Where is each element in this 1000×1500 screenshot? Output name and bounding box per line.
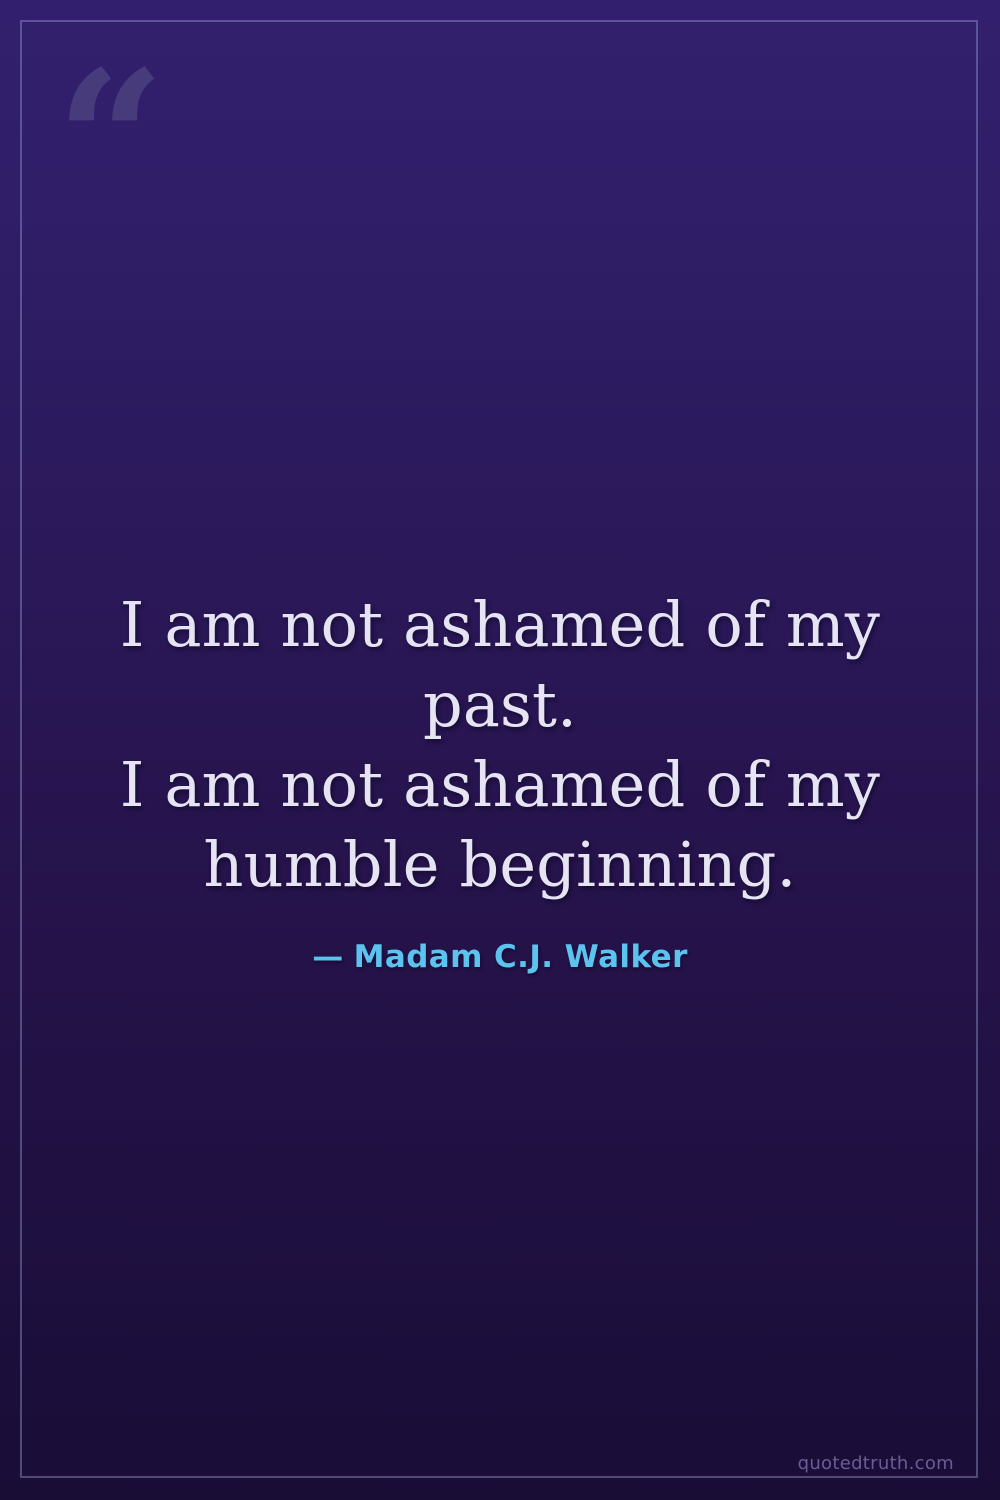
quote-line: I am not ashamed of my past. <box>120 588 880 741</box>
author-name: Madam C.J. Walker <box>354 939 688 975</box>
quote-line: I am not ashamed of my <box>120 748 880 821</box>
quote-card: “ I am not ashamed of my past. I am not … <box>0 0 1000 1500</box>
quote-content: I am not ashamed of my past. I am not as… <box>0 0 1000 1500</box>
quote-text: I am not ashamed of my past. I am not as… <box>64 585 936 905</box>
quote-line: humble beginning. <box>204 828 797 901</box>
em-dash: — <box>312 939 343 975</box>
site-watermark: quotedtruth.com <box>798 1453 954 1474</box>
quote-attribution: —Madam C.J. Walker <box>312 939 688 975</box>
